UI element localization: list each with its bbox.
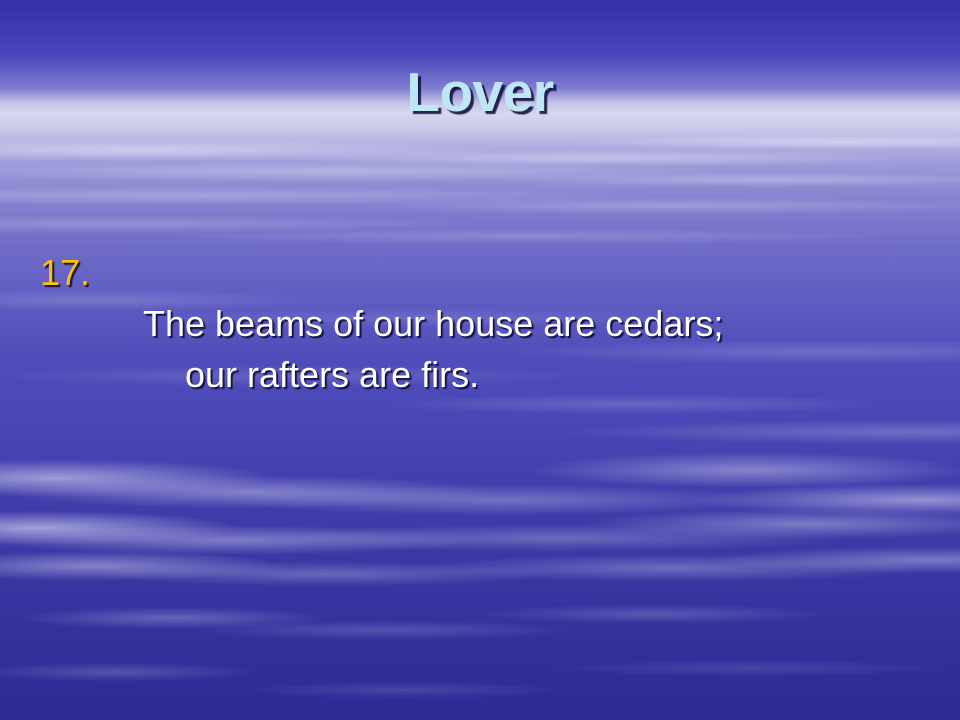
list-item: 17. The beams of our house are cedars; o…	[40, 247, 920, 451]
bullet-number: 17.	[40, 247, 143, 298]
slide-title: Lover	[0, 62, 960, 122]
bullet-text-line-2: our rafters are firs.	[143, 349, 920, 400]
bullet-text-line-1: The beams of our house are cedars;	[143, 303, 723, 344]
slide-body: 17. The beams of our house are cedars; o…	[40, 247, 920, 451]
bullet-text: The beams of our house are cedars; our r…	[143, 247, 920, 451]
presentation-slide: Lover 17. The beams of our house are ced…	[0, 0, 960, 720]
